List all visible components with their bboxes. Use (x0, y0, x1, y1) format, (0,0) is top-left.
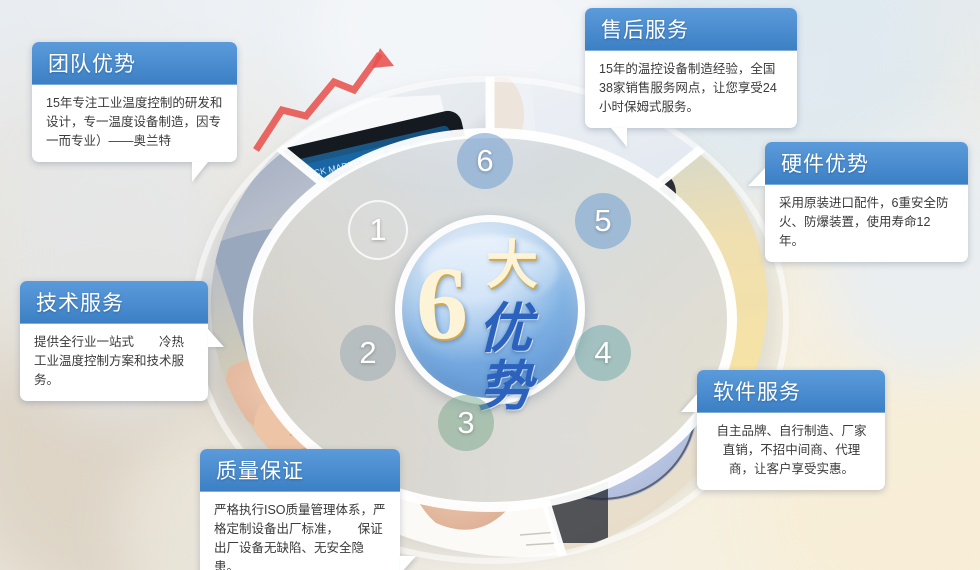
callout-title-team: 团队优势 (32, 42, 237, 85)
callout-card-software[interactable]: 软件服务 自主品牌、自行制造、厂家直销，不招中间商、代理商，让客户享受实惠。 (697, 370, 885, 490)
marker-6[interactable]: 6 (457, 133, 513, 189)
callout-card-after-sales[interactable]: 售后服务 15年的温控设备制造经验，全国38家销售服务网点，让您享受24小时保姆… (585, 8, 797, 128)
marker-4[interactable]: 4 (575, 325, 631, 381)
marker-1-label: 1 (369, 212, 386, 248)
marker-6-label: 6 (476, 143, 493, 179)
callout-tail (208, 329, 224, 347)
marker-2-label: 2 (359, 335, 376, 371)
callout-tail (748, 168, 765, 186)
callout-card-technical[interactable]: 技术服务 提供全行业一站式 冷热工业温度控制方案和技术服务。 (20, 281, 208, 401)
callout-body-quality: 严格执行ISO质量管理体系，严格定制设备出厂标准， 保证出厂设备无缺陷、无安全隐… (200, 492, 400, 570)
callout-title-after-sales: 售后服务 (585, 8, 797, 51)
marker-3[interactable]: 3 (438, 395, 494, 451)
marker-2[interactable]: 2 (340, 325, 396, 381)
callout-body-after-sales: 15年的温控设备制造经验，全国38家销售服务网点，让您享受24小时保姆式服务。 (585, 51, 797, 128)
callout-title-quality: 质量保证 (200, 449, 400, 492)
callout-card-hardware[interactable]: 硬件优势 采用原装进口配件，6重安全防火、防爆装置，使用寿命12年。 (765, 142, 968, 262)
callout-title-hardware: 硬件优势 (765, 142, 968, 185)
marker-1[interactable]: 1 (348, 200, 408, 260)
marker-5-label: 5 (594, 203, 611, 239)
marker-4-label: 4 (594, 335, 611, 371)
callout-body-software: 自主品牌、自行制造、厂家直销，不招中间商、代理商，让客户享受实惠。 (697, 413, 885, 490)
marker-3-label: 3 (457, 405, 474, 441)
callout-tail (192, 162, 208, 182)
center-emblem-text: 6 大 优势 (402, 222, 578, 398)
callout-title-software: 软件服务 (697, 370, 885, 413)
callout-tail (681, 394, 697, 412)
callout-title-technical: 技术服务 (20, 281, 208, 324)
callout-card-quality[interactable]: 质量保证 严格执行ISO质量管理体系，严格定制设备出厂标准， 保证出厂设备无缺陷… (200, 449, 400, 570)
callout-body-technical: 提供全行业一站式 冷热工业温度控制方案和技术服务。 (20, 324, 208, 401)
callout-body-team: 15年专注工业温度控制的研发和设计，专一温度设备制造，因专一而专业）——奥兰特 (32, 85, 237, 162)
callout-tail (611, 128, 627, 147)
infographic-canvas: STOCK MARKET DATA INTC 440.00 (0, 0, 980, 570)
center-script-text: 优势 (478, 300, 578, 416)
marker-5[interactable]: 5 (575, 193, 631, 249)
callout-tail (400, 556, 416, 570)
center-big-char: 大 (486, 240, 538, 292)
callout-body-hardware: 采用原装进口配件，6重安全防火、防爆装置，使用寿命12年。 (765, 185, 968, 262)
callout-card-team[interactable]: 团队优势 15年专注工业温度控制的研发和设计，专一温度设备制造，因专一而专业）—… (32, 42, 237, 162)
center-number: 6 (416, 252, 468, 356)
